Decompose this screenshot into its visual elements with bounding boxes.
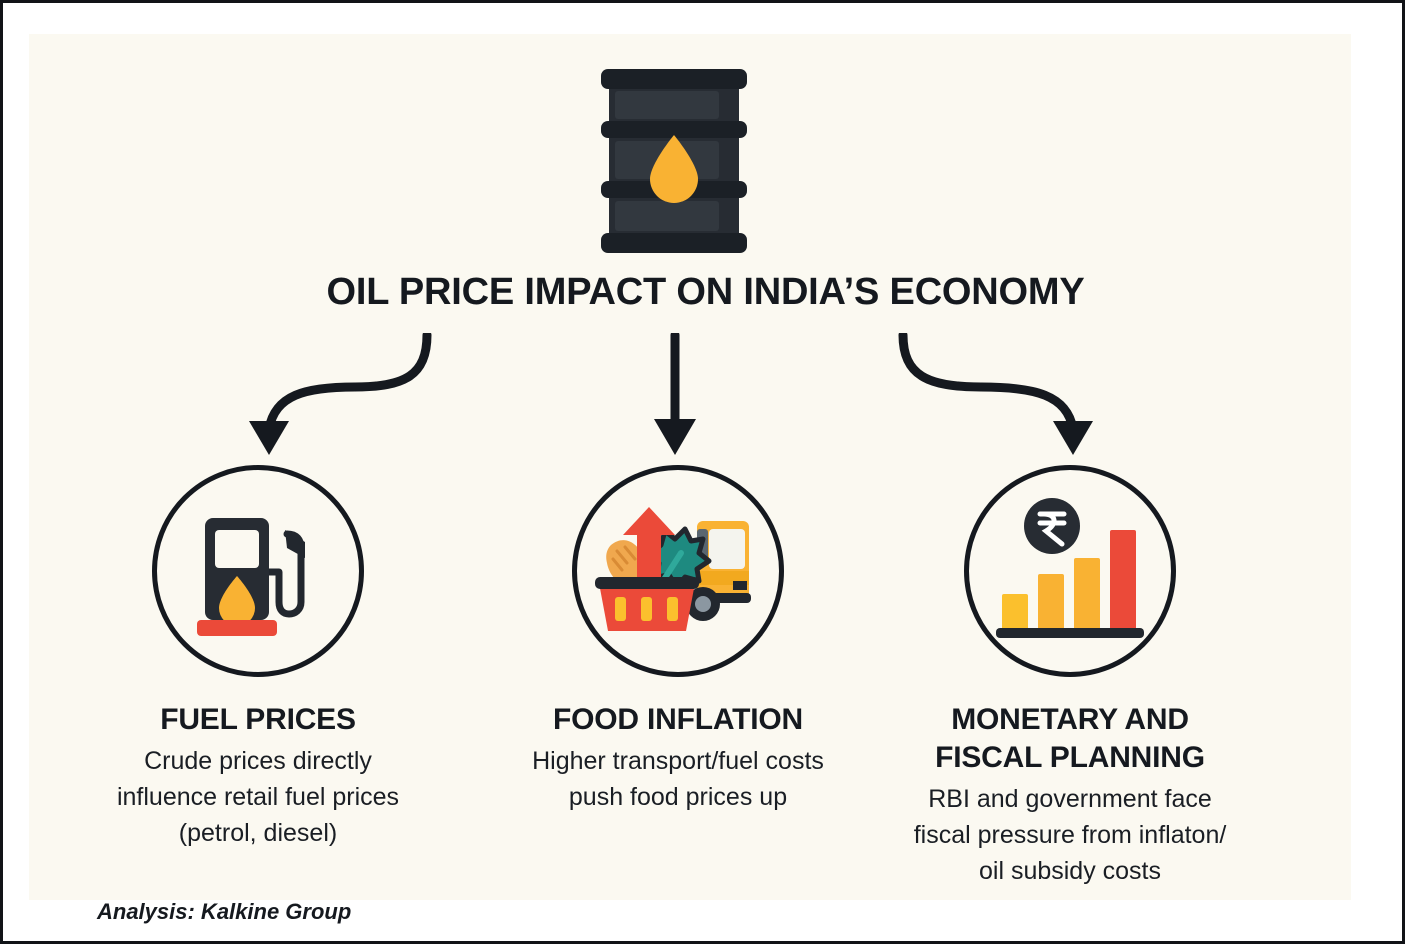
fuel-pump-graphic [183, 496, 333, 646]
body-line: Crude prices directly [48, 743, 468, 779]
oil-barrel-graphic [601, 65, 747, 257]
straight-arrow-down-icon [635, 333, 715, 458]
rupee-bar-chart-icon [964, 465, 1176, 677]
food-basket-truck-graphic [593, 501, 763, 641]
body-line: oil subsidy costs [860, 853, 1280, 889]
body-line: (petrol, diesel) [48, 815, 468, 851]
curved-arrow-right-icon [895, 333, 1105, 458]
food-basket-truck-icon [572, 465, 784, 677]
column-food-inflation: FOOD INFLATION Higher transport/fuel cos… [468, 465, 888, 815]
analysis-credit: Analysis: Kalkine Group [97, 899, 351, 925]
heading-line: FISCAL PLANNING [860, 739, 1280, 777]
column-heading: FUEL PRICES [48, 701, 468, 739]
body-line: fiscal pressure from inflaton/ [860, 817, 1280, 853]
column-fuel-prices: FUEL PRICES Crude prices directly influe… [48, 465, 468, 851]
rupee-bar-chart-graphic [994, 496, 1146, 646]
column-body: Crude prices directly influence retail f… [48, 743, 468, 851]
column-body: RBI and government face fiscal pressure … [860, 781, 1280, 889]
body-line: RBI and government face [860, 781, 1280, 817]
body-line: Higher transport/fuel costs [468, 743, 888, 779]
column-body: Higher transport/fuel costs push food pr… [468, 743, 888, 815]
column-heading: FOOD INFLATION [468, 701, 888, 739]
curved-arrow-left-icon [235, 333, 435, 458]
body-line: push food prices up [468, 779, 888, 815]
infographic-frame: OIL PRICE IMPACT ON INDIA’S ECONOMY [0, 0, 1405, 944]
oil-barrel-icon [601, 65, 747, 257]
fuel-pump-icon [152, 465, 364, 677]
page-title: OIL PRICE IMPACT ON INDIA’S ECONOMY [3, 271, 1405, 314]
heading-line: MONETARY AND [860, 701, 1280, 739]
column-monetary-fiscal: MONETARY AND FISCAL PLANNING RBI and gov… [860, 465, 1280, 889]
body-line: influence retail fuel prices [48, 779, 468, 815]
column-heading: MONETARY AND FISCAL PLANNING [860, 701, 1280, 777]
